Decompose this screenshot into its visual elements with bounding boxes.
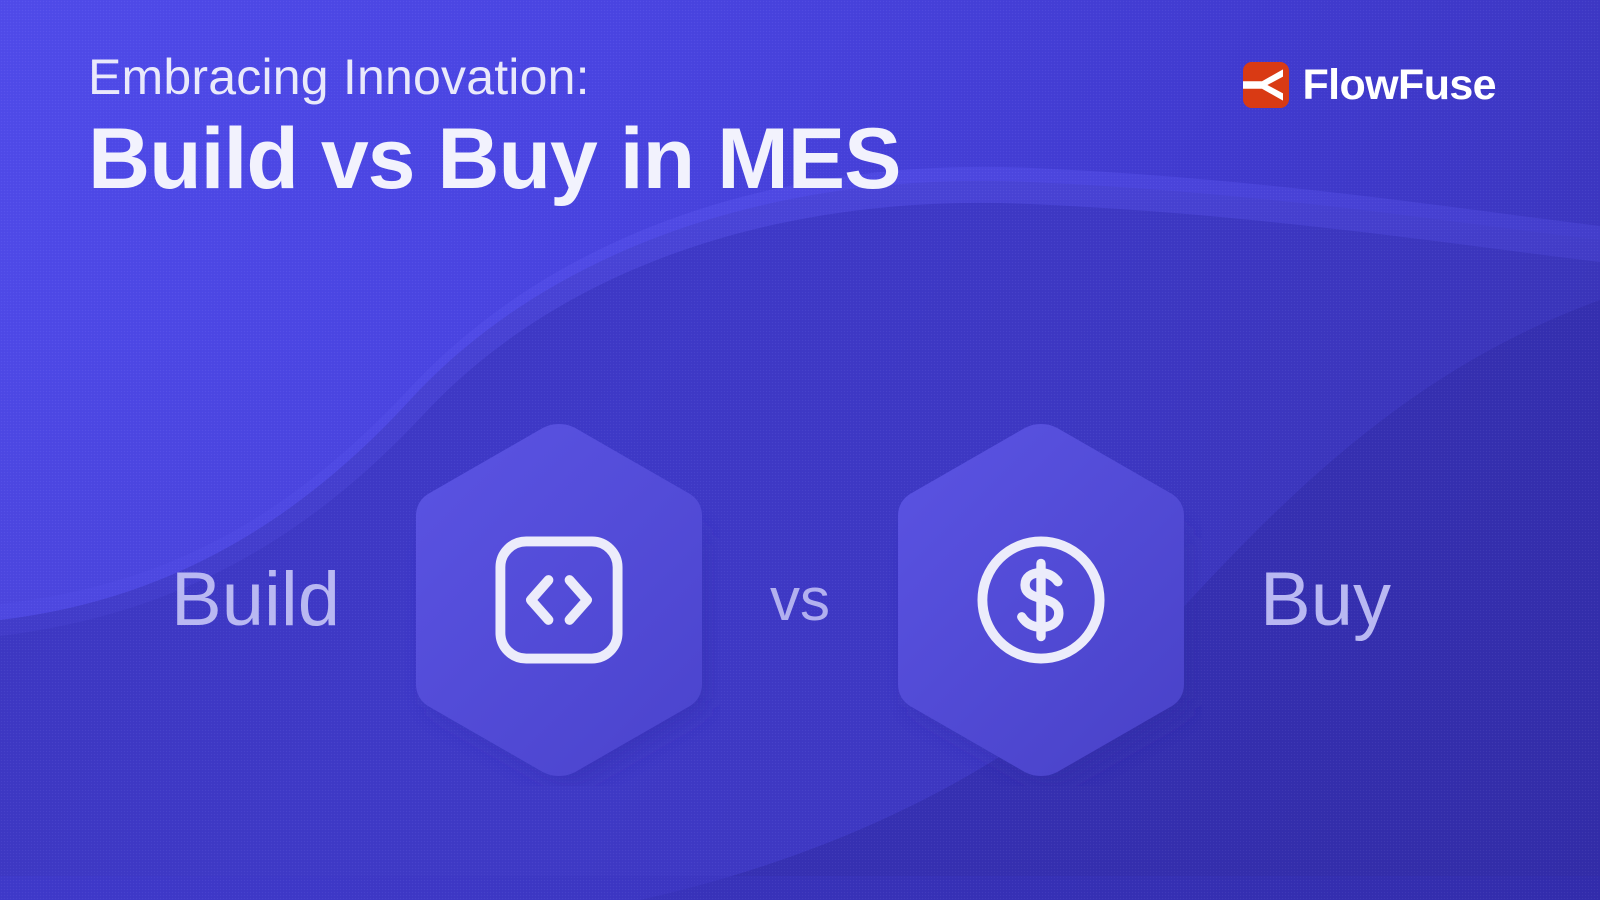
banner-headline: Build vs Buy in MES xyxy=(88,116,900,204)
brand-lockup[interactable]: FlowFuse xyxy=(1243,62,1497,108)
banner-eyebrow: Embracing Innovation: xyxy=(88,52,900,102)
headline-block: Embracing Innovation: Build vs Buy in ME… xyxy=(88,52,900,204)
code-brackets-icon xyxy=(484,525,634,675)
buy-hexagon-card[interactable]: dollar-circle-icon xyxy=(880,414,1202,786)
build-label: Build xyxy=(108,562,398,638)
build-hexagon-card[interactable]: code-brackets-icon xyxy=(398,414,720,786)
flowfuse-logo-icon xyxy=(1243,62,1289,108)
comparison-row: Build xyxy=(0,400,1600,800)
buy-label: Buy xyxy=(1202,562,1492,638)
versus-separator: vs xyxy=(720,570,880,630)
banner-header: Embracing Innovation: Build vs Buy in ME… xyxy=(0,0,1600,270)
banner-root: Embracing Innovation: Build vs Buy in ME… xyxy=(0,0,1600,900)
dollar-circle-icon xyxy=(966,525,1116,675)
brand-name: FlowFuse xyxy=(1303,64,1497,107)
